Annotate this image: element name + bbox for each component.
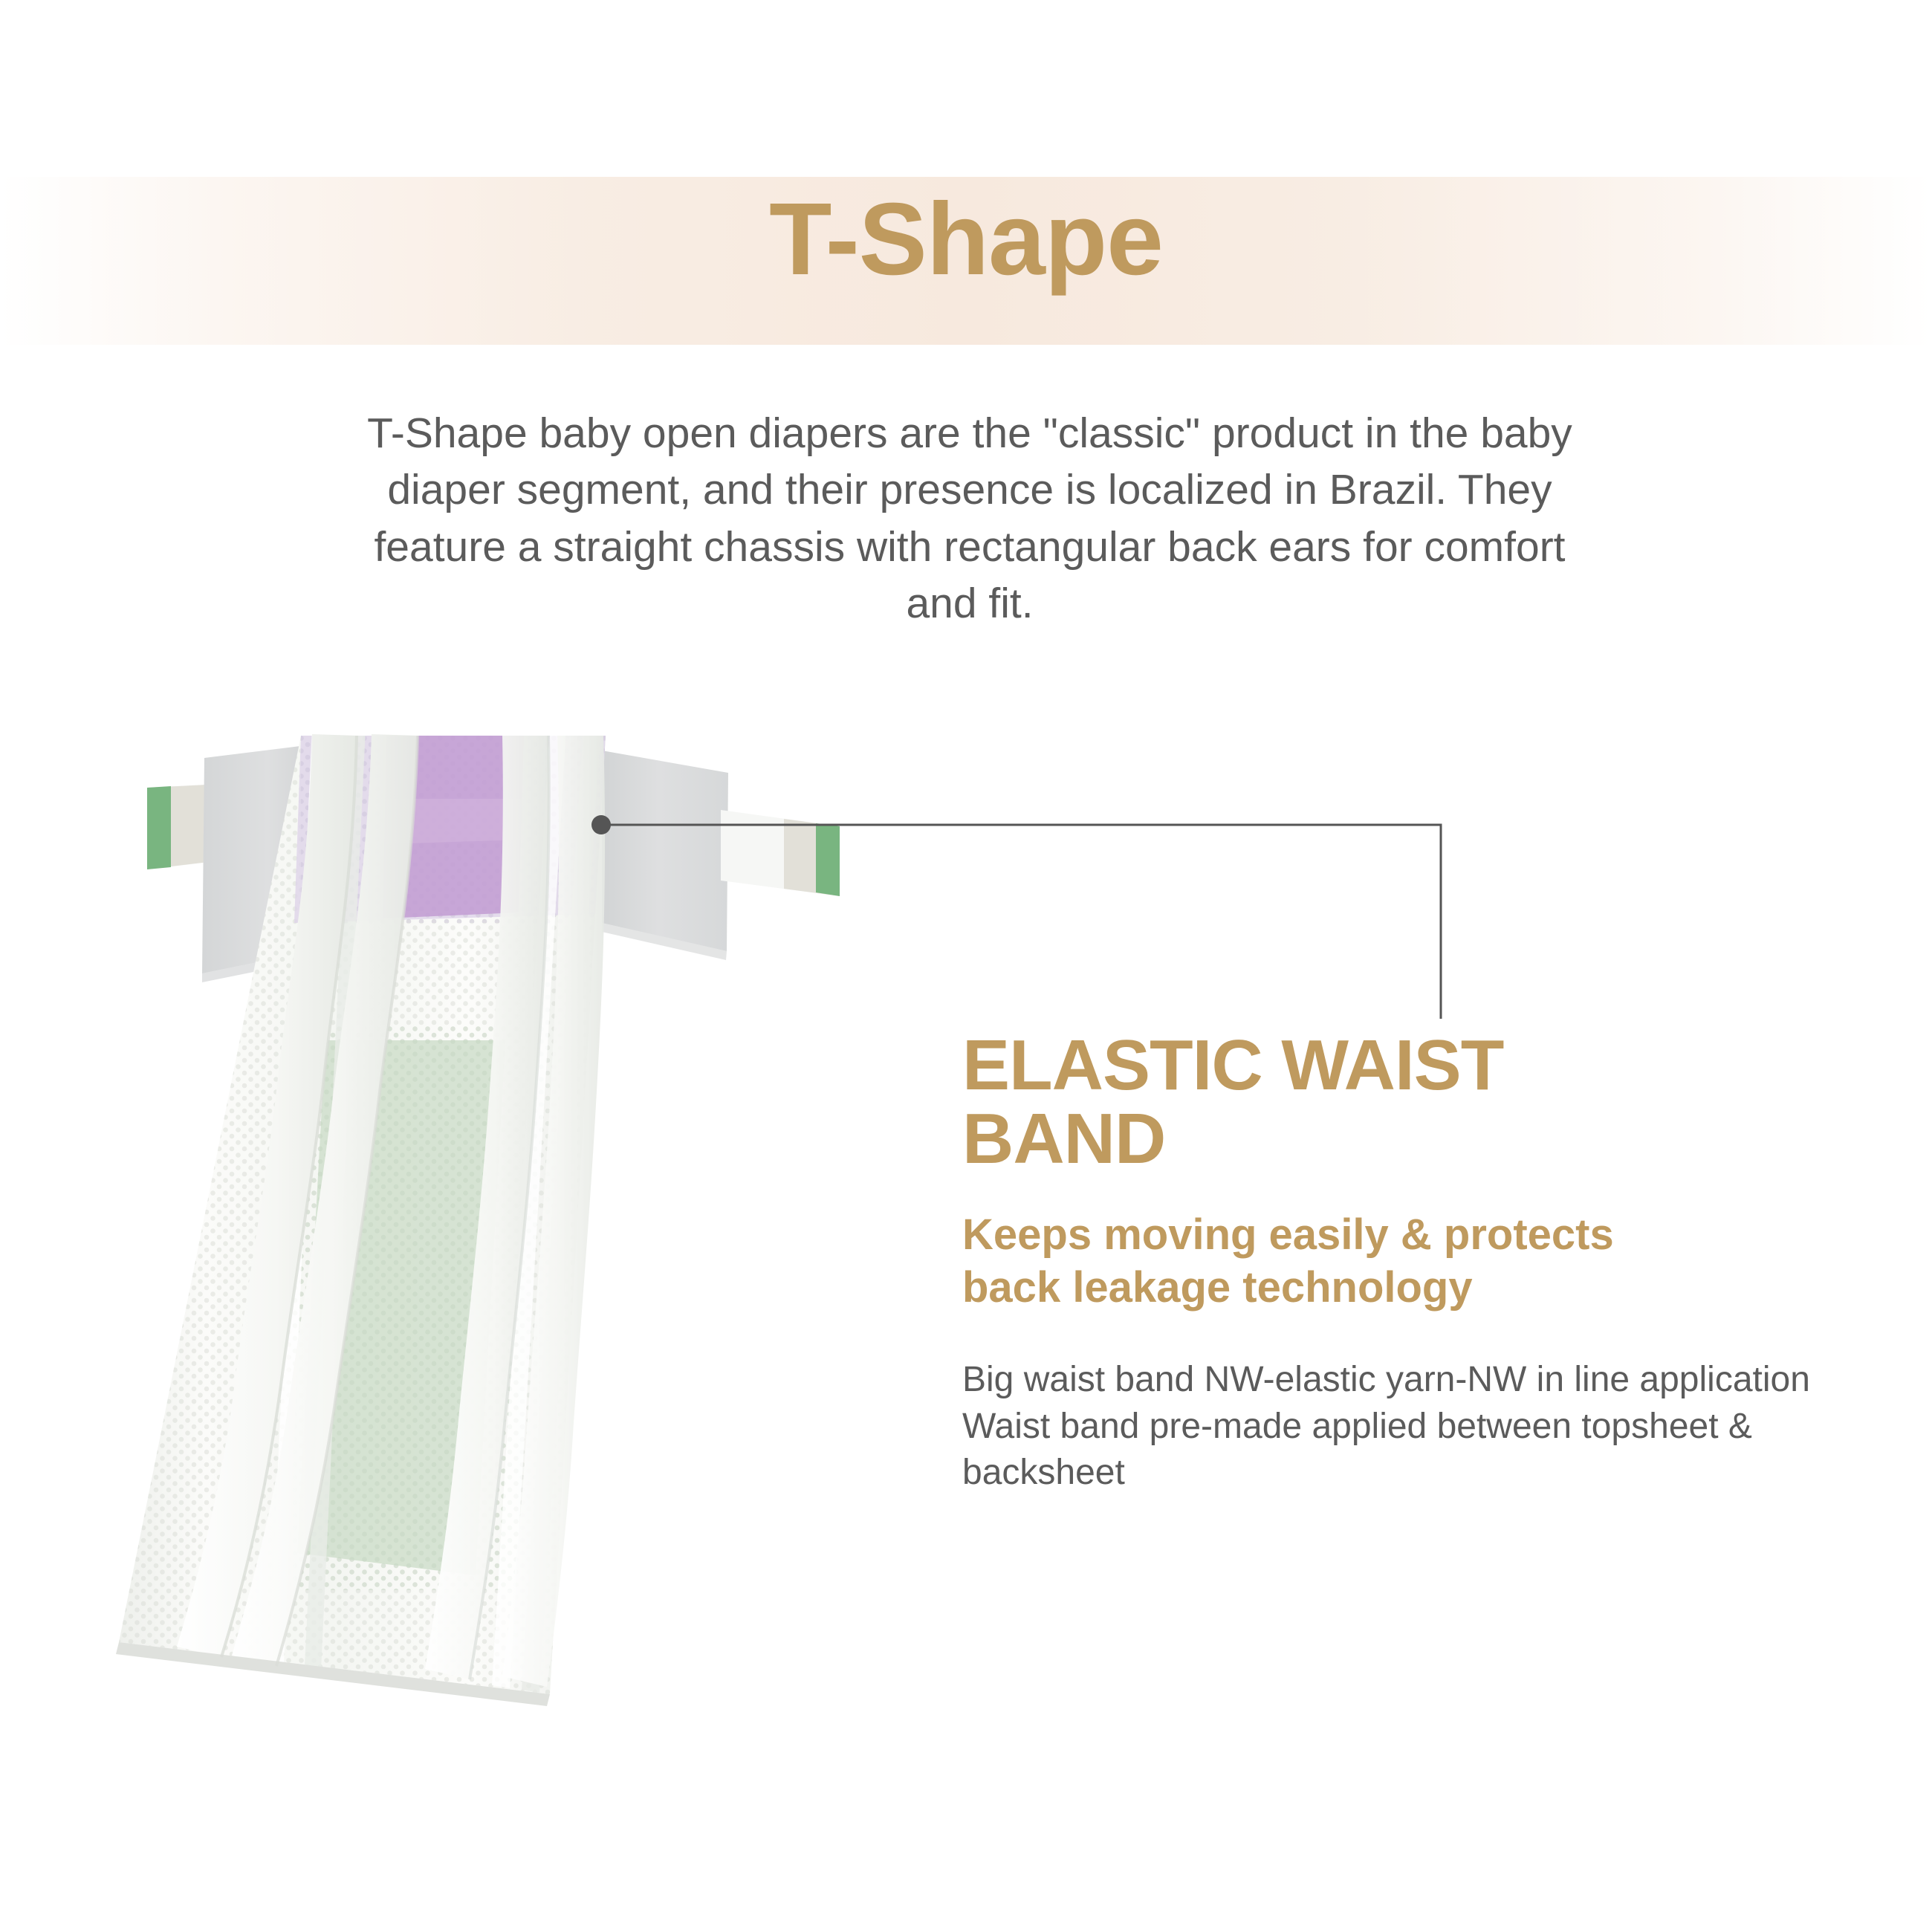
callout-subtitle: Keeps moving easily & protects back leak… [962, 1209, 1847, 1315]
page-title: T-Shape [0, 182, 1932, 297]
intro-paragraph: T-Shape baby open diapers are the "class… [338, 405, 1601, 632]
callout-title: ELASTIC WAIST BAND [962, 1029, 1847, 1176]
callout-block: ELASTIC WAIST BAND Keeps moving easily &… [962, 1029, 1847, 1496]
right-back-ear [602, 751, 840, 960]
callout-body-text: Big waist band NW-elastic yarn-NW in lin… [962, 1357, 1847, 1496]
